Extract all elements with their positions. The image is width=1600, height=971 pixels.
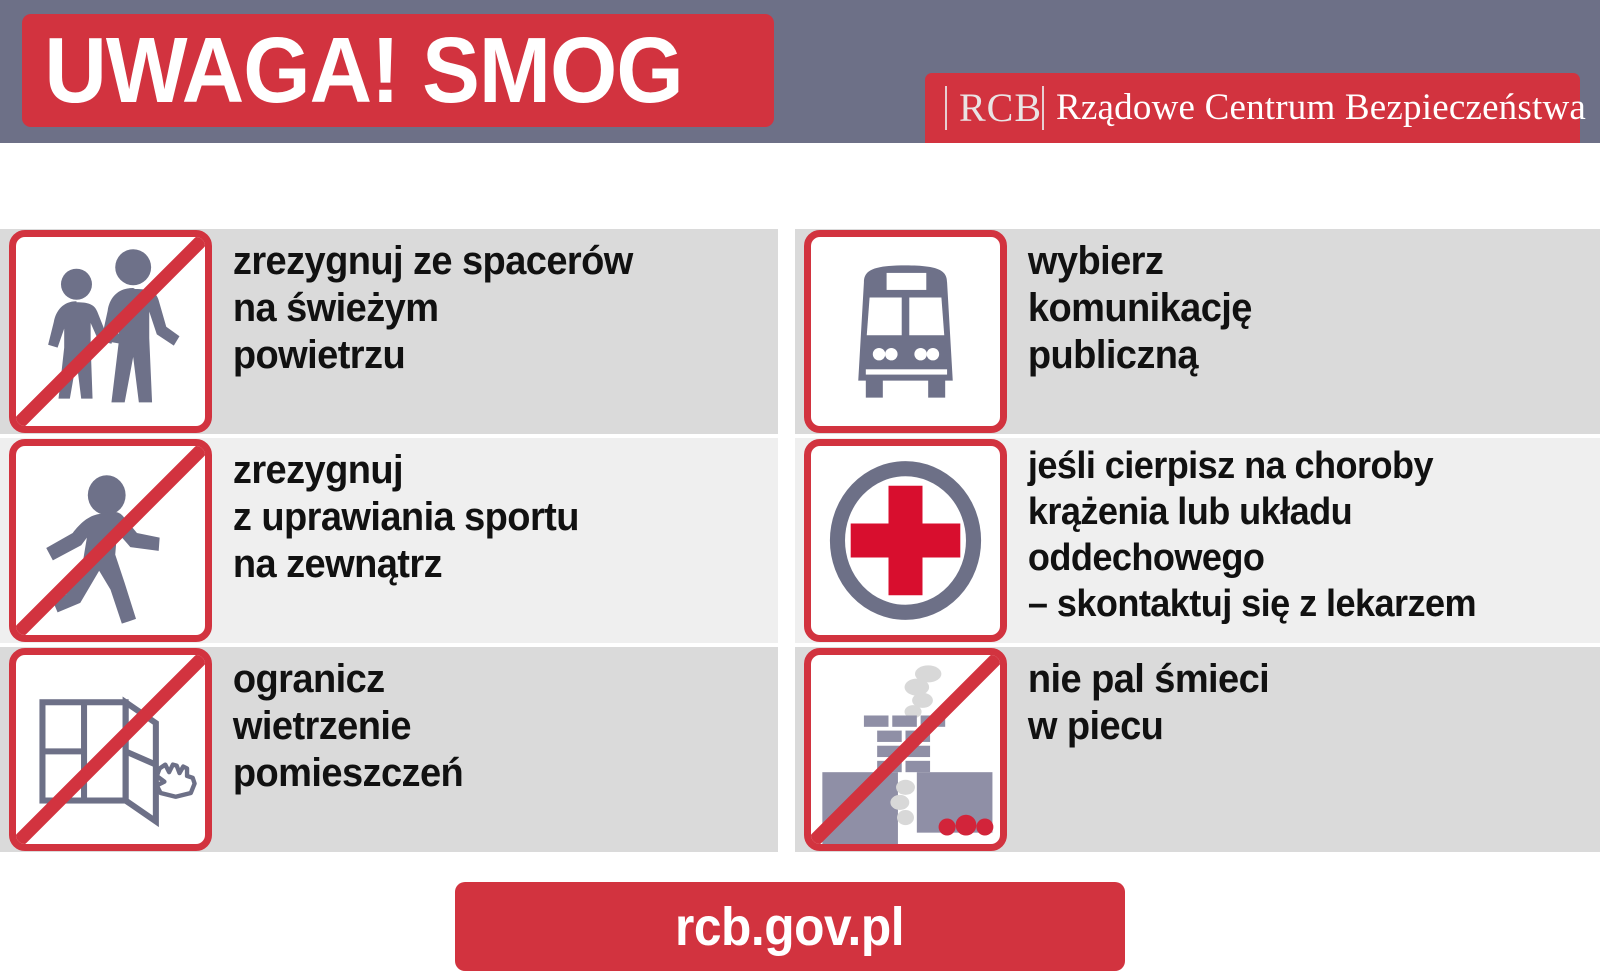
advice-grid: zrezygnuj ze spacerów na świeżym powietr…	[0, 229, 1600, 857]
logo-divider-left-icon	[945, 86, 947, 130]
advice-text: nie pal śmieci w piecu	[1007, 647, 1570, 750]
advice-line: zrezygnuj ze spacerów	[233, 238, 750, 285]
logo-divider-right-icon	[1042, 86, 1044, 130]
runner-no-icon	[9, 439, 212, 642]
medical-cross-icon	[804, 439, 1007, 642]
pedestrians-no-icon-graphic	[16, 237, 205, 426]
advice-item-medical: jeśli cierpisz na choroby krążenia lub u…	[795, 438, 1600, 643]
logo-full-name: Rządowe Centrum Bezpieczeństwa	[1056, 86, 1586, 130]
advice-item-ventilation: ogranicz wietrzenie pomieszczeń	[0, 647, 778, 852]
page-title: UWAGA! SMOG	[22, 24, 683, 117]
bus-icon	[804, 230, 1007, 433]
advice-line: – skontaktuj się z lekarzem	[1028, 581, 1570, 627]
advice-item-burning-waste: nie pal śmieci w piecu	[795, 647, 1600, 852]
advice-line: wybierz	[1028, 238, 1570, 285]
advice-line: zrezygnuj	[233, 447, 750, 494]
advice-line: ogranicz	[233, 656, 750, 703]
advice-line: z uprawiania sportu	[233, 494, 750, 541]
rcb-logo: RCB Rządowe Centrum Bezpieczeństwa	[925, 73, 1580, 143]
website-url[interactable]: rcb.gov.pl	[675, 900, 904, 954]
advice-item-pedestrians: zrezygnuj ze spacerów na świeżym powietr…	[0, 229, 778, 434]
advice-row: ogranicz wietrzenie pomieszczeń	[0, 647, 1600, 852]
advice-line: powietrzu	[233, 332, 750, 379]
advice-text: jeśli cierpisz na choroby krążenia lub u…	[1007, 438, 1570, 627]
advice-text: zrezygnuj ze spacerów na świeżym powietr…	[212, 229, 750, 379]
advice-row: zrezygnuj ze spacerów na świeżym powietr…	[0, 229, 1600, 434]
advice-text: wybierz komunikację publiczną	[1007, 229, 1570, 379]
advice-line: oddechowego	[1028, 535, 1570, 581]
bus-icon-graphic	[811, 237, 1000, 426]
furnace-smoke-no-icon-graphic	[811, 655, 1000, 844]
furnace-smoke-no-icon	[804, 648, 1007, 851]
open-window-no-icon-graphic	[16, 655, 205, 844]
open-window-no-icon	[9, 648, 212, 851]
advice-text: ogranicz wietrzenie pomieszczeń	[212, 647, 750, 797]
advice-line: wietrzenie	[233, 703, 750, 750]
runner-no-icon-graphic	[16, 446, 205, 635]
advice-line: krążenia lub układu	[1028, 489, 1570, 535]
advice-line: na świeżym	[233, 285, 750, 332]
advice-row: zrezygnuj z uprawiania sportu na zewnątr…	[0, 438, 1600, 643]
advice-line: komunikację	[1028, 285, 1570, 332]
advice-line: pomieszczeń	[233, 750, 750, 797]
pedestrians-no-icon	[9, 230, 212, 433]
title-banner: UWAGA! SMOG	[22, 14, 774, 127]
advice-line: publiczną	[1028, 332, 1570, 379]
logo-abbreviation: RCB	[959, 86, 1042, 130]
header-band: UWAGA! SMOG RCB Rządowe Centrum Bezpiecz…	[0, 0, 1600, 143]
advice-line: w piecu	[1028, 703, 1570, 750]
advice-line: na zewnątrz	[233, 541, 750, 588]
medical-cross-icon-graphic	[811, 446, 1000, 635]
advice-item-sport: zrezygnuj z uprawiania sportu na zewnątr…	[0, 438, 778, 643]
advice-line: nie pal śmieci	[1028, 656, 1570, 703]
advice-item-public-transport: wybierz komunikację publiczną	[795, 229, 1600, 434]
advice-line: jeśli cierpisz na choroby	[1028, 443, 1570, 489]
infographic-poster: UWAGA! SMOG RCB Rządowe Centrum Bezpiecz…	[0, 0, 1600, 971]
website-banner[interactable]: rcb.gov.pl	[455, 882, 1125, 971]
advice-text: zrezygnuj z uprawiania sportu na zewnątr…	[212, 438, 750, 588]
